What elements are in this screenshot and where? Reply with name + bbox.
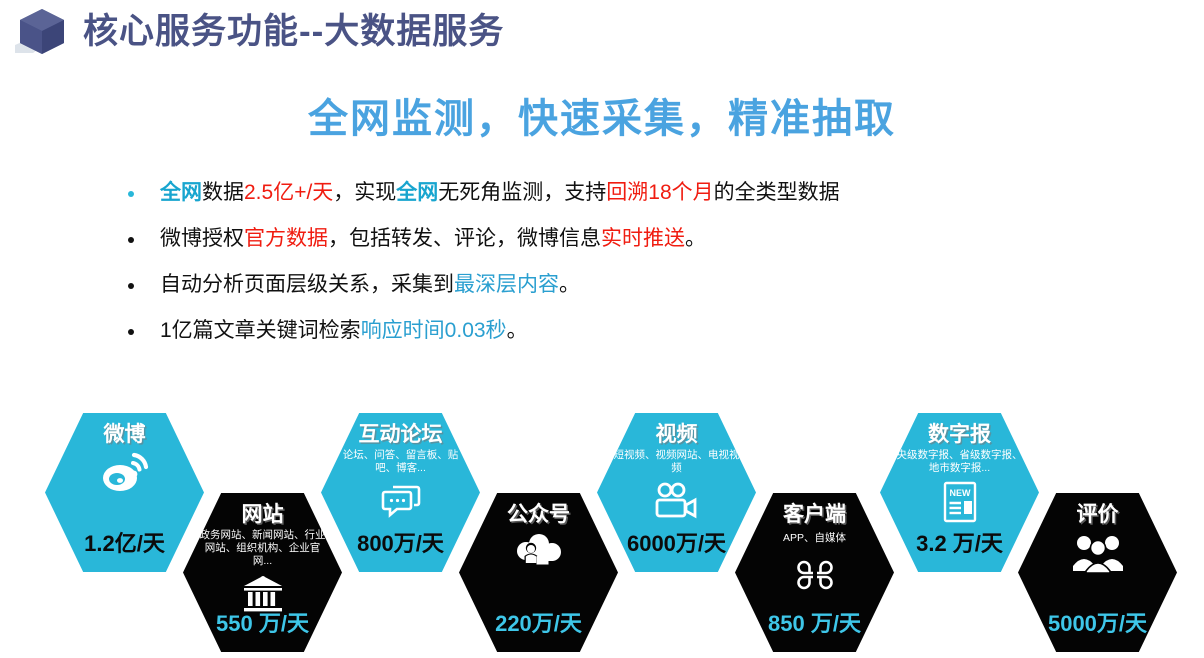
hexagon-value: 850 万/天 (735, 606, 894, 638)
hexagon-title: 网站 (242, 503, 284, 526)
hexagon-subtitle: 短视频、视频网站、电视视频 (614, 449, 740, 475)
four-petal-app-icon (794, 552, 836, 598)
bullet-text-segment: 。 (685, 227, 706, 250)
bullet-text-segment: 2.5亿+/天 (244, 181, 333, 204)
bullet-item: 1亿篇文章关键词检索响应时间0.03秒。 (128, 316, 1128, 346)
slide-subtitle: 全网监测，快速采集，精准抽取 (0, 86, 1204, 144)
bullet-marker-icon (128, 191, 134, 197)
bullet-item: 全网数据2.5亿+/天，实现全网无死角监测，支持回溯18个月的全类型数据 (128, 178, 1128, 208)
hexagon-card-review[interactable]: 评价 5000万/天 (1018, 493, 1177, 652)
bullet-text: 微博授权官方数据，包括转发、评论，微博信息实时推送。 (160, 224, 706, 254)
slide-canvas: 核心服务功能--大数据服务 全网监测，快速采集，精准抽取 全网数据2.5亿+/天… (0, 0, 1204, 658)
chat-bubble-icon (379, 479, 423, 525)
bullet-text-segment: 1亿篇文章关键词检索 (160, 319, 361, 342)
hexagon-title: 视频 (656, 423, 698, 446)
bullet-text-segment: 回溯18个月 (606, 181, 713, 204)
hexagon-title: 客户端 (783, 503, 846, 526)
page-title: 核心服务功能--大数据服务 (83, 3, 504, 54)
hexagon-value: 5000万/天 (1018, 606, 1177, 638)
group-people-icon (1071, 530, 1125, 576)
hexagon-row: 微博 1.2亿/天网站政务网站、新闻网站、行业网站、组织机构、企业官网... 5… (0, 400, 1204, 658)
hexagon-card-weibo[interactable]: 微博 1.2亿/天 (45, 413, 204, 572)
hexagon-value: 1.2亿/天 (45, 526, 204, 558)
bullet-text-segment: ，实现 (333, 181, 396, 204)
bullet-text-segment: 官方数据 (244, 227, 328, 250)
hexagon-card-website[interactable]: 网站政务网站、新闻网站、行业网站、组织机构、企业官网... 550 万/天 (183, 493, 342, 652)
cloud-people-icon (512, 530, 566, 576)
bullet-text-segment: ，包括转发、评论，微博信息 (328, 227, 601, 250)
bullet-item: 自动分析页面层级关系，采集到最深层内容。 (128, 270, 1128, 300)
hexagon-subtitle: 央级数字报、省级数字报、地市数字报... (897, 449, 1023, 475)
hexagon-card-client-app[interactable]: 客户端APP、自媒体 850 万/天 (735, 493, 894, 652)
bullet-text: 全网数据2.5亿+/天，实现全网无死角监测，支持回溯18个月的全类型数据 (160, 178, 840, 208)
hexagon-value: 6000万/天 (597, 526, 756, 558)
hexagon-value: 3.2 万/天 (880, 526, 1039, 558)
bullet-marker-icon (128, 283, 134, 289)
hexagon-card-official-account[interactable]: 公众号 220万/天 (459, 493, 618, 652)
bullet-marker-icon (128, 237, 134, 243)
svg-text:NEW: NEW (949, 488, 971, 498)
bullet-text-segment: 自动分析页面层级关系，采集到 (160, 273, 454, 296)
bullet-text-segment: 无死角监测，支持 (438, 181, 606, 204)
bullet-text: 自动分析页面层级关系，采集到最深层内容。 (160, 270, 580, 300)
bullet-list: 全网数据2.5亿+/天，实现全网无死角监测，支持回溯18个月的全类型数据微博授权… (128, 178, 1128, 362)
bullet-marker-icon (128, 329, 134, 335)
newspaper-new-icon: NEW (941, 479, 979, 525)
hexagon-subtitle: 论坛、问答、留言板、贴吧、博客... (338, 449, 464, 475)
hexagon-title: 微博 (104, 423, 146, 446)
bullet-item: 微博授权官方数据，包括转发、评论，微博信息实时推送。 (128, 224, 1128, 254)
bullet-text-segment: 响应时间0.03秒 (361, 319, 507, 342)
bullet-text-segment: 实时推送 (601, 227, 685, 250)
hexagon-value: 800万/天 (321, 526, 480, 558)
bullet-text-segment: 。 (507, 319, 528, 342)
slide-header: 核心服务功能--大数据服务 (0, 0, 1204, 60)
hexagon-title: 公众号 (507, 503, 570, 526)
hexagon-card-digital-paper[interactable]: 数字报央级数字报、省级数字报、地市数字报... NEW 3.2 万/天 (880, 413, 1039, 572)
bullet-text-segment: 全网 (160, 181, 202, 204)
video-camera-icon (653, 479, 701, 525)
bullet-text-segment: 全网 (396, 181, 438, 204)
bullet-text: 1亿篇文章关键词检索响应时间0.03秒。 (160, 316, 528, 346)
weibo-icon (101, 450, 149, 496)
cube-icon (13, 5, 71, 57)
bullet-text-segment: 数据 (202, 181, 244, 204)
bullet-text-segment: 的全类型数据 (714, 181, 840, 204)
bullet-text-segment: 微博授权 (160, 227, 244, 250)
hexagon-subtitle: 政务网站、新闻网站、行业网站、组织机构、企业官网... (200, 529, 326, 568)
hexagon-title: 互动论坛 (359, 423, 443, 446)
hexagon-card-forum[interactable]: 互动论坛论坛、问答、留言板、贴吧、博客... 800万/天 (321, 413, 480, 572)
hexagon-title: 评价 (1077, 503, 1119, 526)
hexagon-value: 220万/天 (459, 606, 618, 638)
hexagon-subtitle: APP、自媒体 (752, 529, 878, 548)
bullet-text-segment: 最深层内容 (454, 273, 559, 296)
hexagon-value: 550 万/天 (183, 606, 342, 638)
bullet-text-segment: 。 (559, 273, 580, 296)
hexagon-title: 数字报 (928, 423, 991, 446)
hexagon-card-video[interactable]: 视频短视频、视频网站、电视视频 6000万/天 (597, 413, 756, 572)
